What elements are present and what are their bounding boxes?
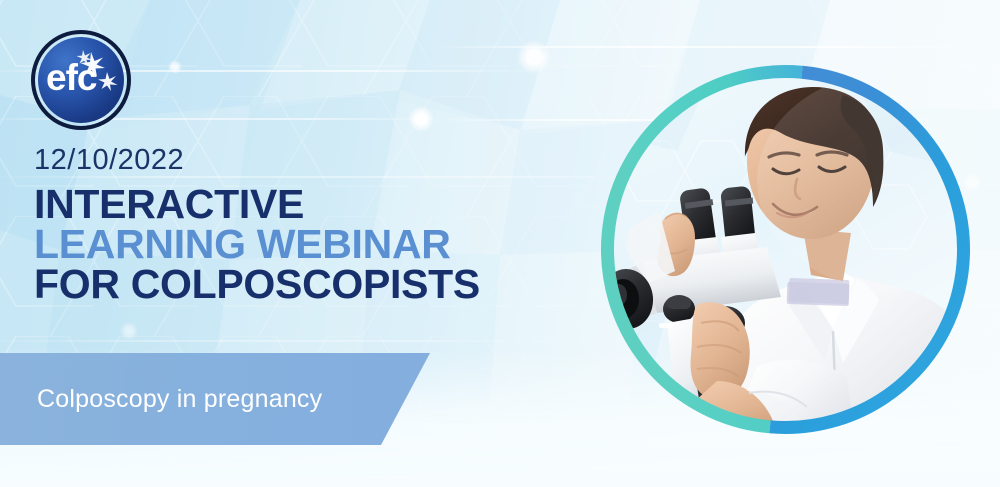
headline-line-1: INTERACTIVE (34, 184, 594, 224)
webinar-date: 12/10/2022 (34, 146, 594, 175)
glow-dot (168, 60, 182, 74)
clinician-photo-circle (597, 61, 974, 438)
headline-line-3: FOR COLPOSCOPISTS (34, 264, 594, 304)
glow-dot (408, 106, 434, 132)
subtitle-text: Colposcopy in pregnancy (0, 385, 322, 414)
svg-text:efc: efc (46, 57, 97, 98)
subtitle-ribbon: Colposcopy in pregnancy (0, 353, 430, 445)
glow-dot (120, 322, 138, 340)
glow-dot (517, 40, 551, 74)
light-streak (430, 46, 1000, 48)
text-block: 12/10/2022 INTERACTIVE LEARNING WEBINAR … (34, 146, 594, 305)
photo-content (597, 61, 974, 438)
headline-line-2: LEARNING WEBINAR (34, 224, 594, 264)
light-streak (0, 340, 600, 342)
efc-logo[interactable]: efc (31, 30, 131, 130)
webinar-promo-banner: efc 12/10/2022 INTERACTIVE LEARNING WEBI… (0, 0, 1000, 487)
